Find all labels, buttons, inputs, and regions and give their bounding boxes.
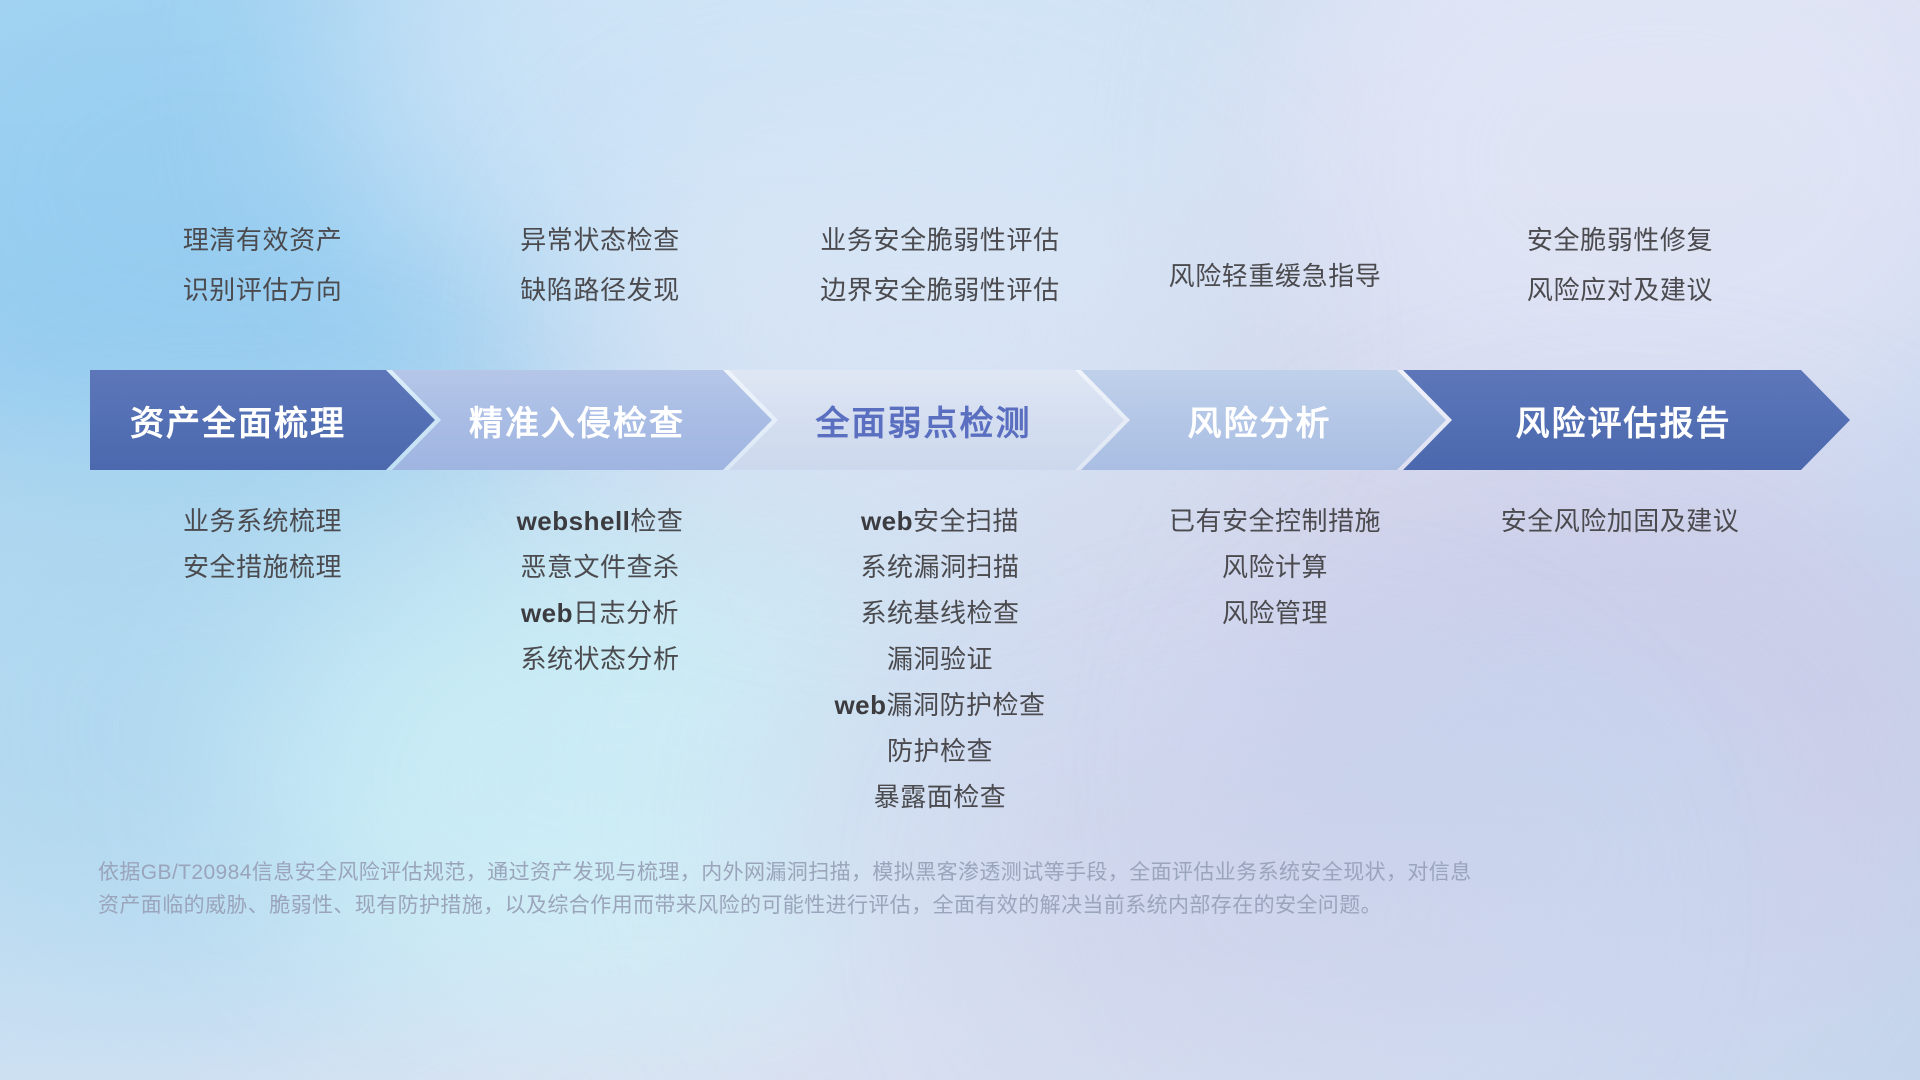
stage-bottom-column-3: web安全扫描系统漏洞扫描系统基线检查漏洞验证web漏洞防护检查防护检查暴露面检… [765,505,1115,813]
bottom-label-row: 业务系统梳理安全措施梳理 webshell检查恶意文件查杀web日志分析系统状态… [0,505,1920,813]
top-label-row: 理清有效资产识别评估方向 异常状态检查缺陷路径发现 业务安全脆弱性评估边界安全脆… [0,225,1920,307]
bottom-item: 恶意文件查杀 [435,551,765,583]
stage-chevron-4[interactable]: 风险分析 [1081,370,1446,470]
bottom-item: 业务系统梳理 [90,505,435,537]
stage-title-3: 全面弱点检测 [816,396,1032,445]
top-item: 风险应对及建议 [1435,275,1805,305]
bottom-item: 安全风险加固及建议 [1435,505,1805,537]
stage-bottom-column-2: webshell检查恶意文件查杀web日志分析系统状态分析 [435,505,765,675]
top-item-list: 业务安全脆弱性评估边界安全脆弱性评估 [765,225,1115,305]
bottom-item-list: 已有安全控制措施风险计算风险管理 [1115,505,1435,629]
bottom-item: web日志分析 [435,597,765,629]
stage-title-1: 资产全面梳理 [130,396,346,445]
stage-top-column-3: 业务安全脆弱性评估边界安全脆弱性评估 [765,225,1115,305]
top-item: 异常状态检查 [435,225,765,255]
top-item: 风险轻重缓急指导 [1115,261,1435,291]
bottom-item: 系统基线检查 [765,597,1115,629]
top-item-list: 安全脆弱性修复风险应对及建议 [1435,225,1805,305]
stage-bottom-column-5: 安全风险加固及建议 [1435,505,1805,537]
bottom-item: 防护检查 [765,735,1115,767]
footer-line-1: 依据GB/T20984信息安全风险评估规范，通过资产发现与梳理，内外网漏洞扫描，… [98,856,1598,889]
bottom-item-prefix: webshell [517,506,631,536]
bottom-item: web安全扫描 [765,505,1115,537]
stage-top-column-4: 风险轻重缓急指导 [1115,225,1435,307]
top-item: 缺陷路径发现 [435,275,765,305]
stage-top-column-2: 异常状态检查缺陷路径发现 [435,225,765,305]
stage-chevron-1[interactable]: 资产全面梳理 [90,370,435,470]
top-item: 识别评估方向 [90,275,435,305]
bottom-item-list: 安全风险加固及建议 [1435,505,1805,537]
top-item: 业务安全脆弱性评估 [765,225,1115,255]
bottom-item: 已有安全控制措施 [1115,505,1435,537]
bottom-item: 暴露面检查 [765,781,1115,813]
stage-chevron-5[interactable]: 风险评估报告 [1403,370,1850,470]
process-diagram: 理清有效资产识别评估方向 异常状态检查缺陷路径发现 业务安全脆弱性评估边界安全脆… [0,0,1920,1080]
stage-chevron-3[interactable]: 全面弱点检测 [729,370,1124,470]
top-item: 理清有效资产 [90,225,435,255]
top-item: 边界安全脆弱性评估 [765,275,1115,305]
bottom-item-prefix: web [521,598,573,628]
top-item-list: 风险轻重缓急指导 [1115,225,1435,307]
bottom-item: 风险计算 [1115,551,1435,583]
bottom-item-list: web安全扫描系统漏洞扫描系统基线检查漏洞验证web漏洞防护检查防护检查暴露面检… [765,505,1115,813]
bottom-item: web漏洞防护检查 [765,689,1115,721]
stage-top-column-1: 理清有效资产识别评估方向 [90,225,435,305]
stage-bottom-column-4: 已有安全控制措施风险计算风险管理 [1115,505,1435,629]
bottom-item: 系统漏洞扫描 [765,551,1115,583]
bottom-item-list: webshell检查恶意文件查杀web日志分析系统状态分析 [435,505,765,675]
bottom-item: 系统状态分析 [435,643,765,675]
stage-chevron-banner: 资产全面梳理 精准入侵检查 全面弱点检测 风险分析 风险评估报告 [90,370,1850,470]
stage-chevron-2[interactable]: 精准入侵检查 [392,370,772,470]
bottom-item-prefix: web [834,690,886,720]
bottom-item: 漏洞验证 [765,643,1115,675]
stage-title-5: 风险评估报告 [1516,396,1732,445]
top-item-list: 理清有效资产识别评估方向 [90,225,435,305]
footer-description: 依据GB/T20984信息安全风险评估规范，通过资产发现与梳理，内外网漏洞扫描，… [98,856,1598,922]
footer-line-2: 资产面临的威胁、脆弱性、现有防护措施，以及综合作用而带来风险的可能性进行评估，全… [98,889,1598,922]
stage-bottom-column-1: 业务系统梳理安全措施梳理 [90,505,435,583]
top-item: 安全脆弱性修复 [1435,225,1805,255]
stage-top-column-5: 安全脆弱性修复风险应对及建议 [1435,225,1805,305]
bottom-item: 风险管理 [1115,597,1435,629]
top-item-list: 异常状态检查缺陷路径发现 [435,225,765,305]
bottom-item-list: 业务系统梳理安全措施梳理 [90,505,435,583]
stage-title-4: 风险分析 [1188,396,1332,445]
stage-title-2: 精准入侵检查 [469,396,685,445]
bottom-item: 安全措施梳理 [90,551,435,583]
bottom-item: webshell检查 [435,505,765,537]
bottom-item-prefix: web [861,506,913,536]
